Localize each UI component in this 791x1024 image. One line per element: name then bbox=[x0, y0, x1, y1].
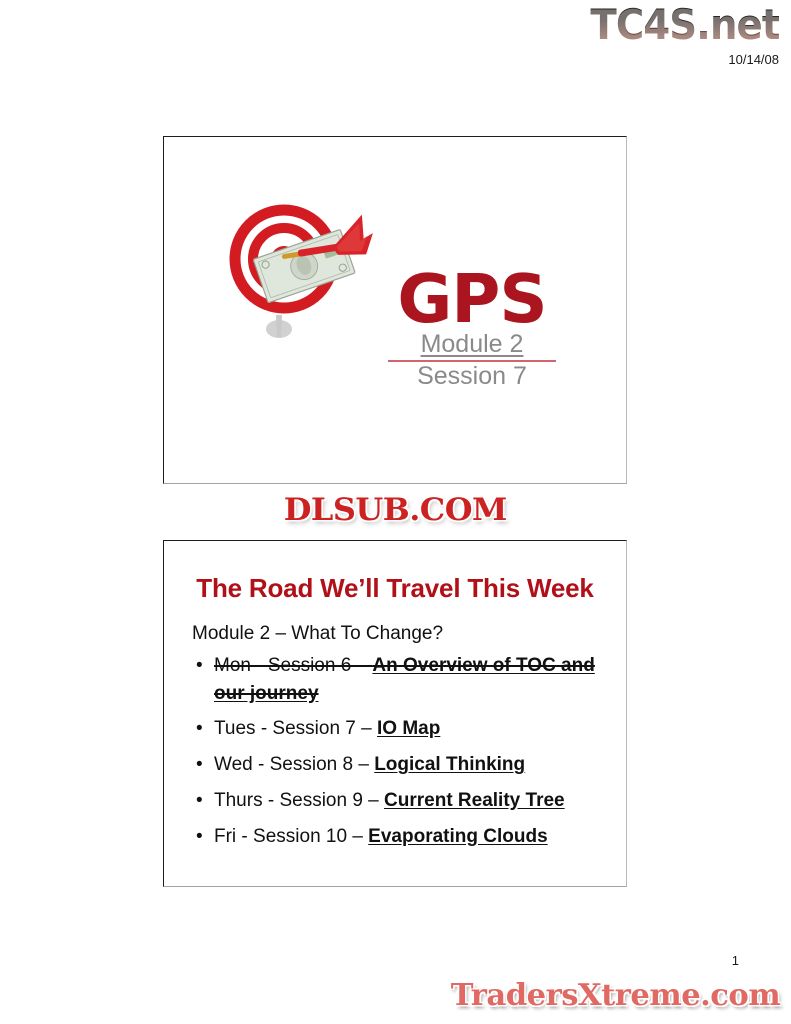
document-page: TC4S.net 10/14/08 bbox=[0, 0, 791, 1024]
gps-text-block: GPS Module 2 Session 7 bbox=[382, 271, 562, 390]
list-item-emphasis: Evaporating Clouds bbox=[368, 826, 547, 847]
header-brand-block: TC4S.net 10/14/08 bbox=[574, 4, 779, 66]
list-item-prefix: Tues - Session 7 – bbox=[214, 718, 377, 739]
bullet-glyph: • bbox=[196, 652, 203, 680]
bullseye-target-icon bbox=[224, 197, 374, 347]
bullet-glyph: • bbox=[196, 823, 203, 851]
agenda-title: The Road We’ll Travel This Week bbox=[164, 573, 626, 604]
gps-logo-lockup: GPS Module 2 Session 7 bbox=[224, 185, 564, 385]
list-item-line: Fri - Session 10 – Evaporating Clouds bbox=[214, 826, 548, 847]
bullet-glyph: • bbox=[196, 715, 203, 743]
list-item-line: Tues - Session 7 – IO Map bbox=[214, 718, 440, 739]
list-item-emphasis: Current Reality Tree bbox=[384, 790, 565, 811]
list-item-line: Thurs - Session 9 – Current Reality Tree bbox=[214, 790, 565, 811]
list-item: • Fri - Session 10 – Evaporating Clouds bbox=[192, 823, 604, 851]
list-item-line: Mon - Session 6 – An Overview of TOC and… bbox=[214, 655, 595, 704]
list-item-prefix: Fri - Session 10 – bbox=[214, 826, 368, 847]
list-item-prefix: Wed - Session 8 – bbox=[214, 754, 374, 775]
agenda-list: • Mon - Session 6 – An Overview of TOC a… bbox=[192, 652, 604, 850]
agenda-lead-text: Module 2 – What To Change? bbox=[192, 623, 604, 645]
footer-brand-text: TradersXtreme.com bbox=[451, 978, 780, 1013]
gps-wordmark: GPS bbox=[382, 271, 562, 329]
watermark-text: DLSUB.COM bbox=[284, 492, 507, 528]
list-item-prefix: Thurs - Session 9 – bbox=[214, 790, 384, 811]
page-number: 1 bbox=[732, 953, 739, 968]
site-wordmark: TC4S.net bbox=[590, 4, 779, 46]
list-item-emphasis: IO Map bbox=[377, 718, 440, 739]
header-date: 10/14/08 bbox=[574, 53, 779, 66]
list-item: • Thurs - Session 9 – Current Reality Tr… bbox=[192, 787, 604, 815]
bullet-glyph: • bbox=[196, 787, 203, 815]
bullet-glyph: • bbox=[196, 751, 203, 779]
list-item: • Tues - Session 7 – IO Map bbox=[192, 715, 604, 743]
list-item-emphasis: Logical Thinking bbox=[374, 754, 525, 775]
list-item-line: Wed - Session 8 – Logical Thinking bbox=[214, 754, 525, 775]
slide-agenda: The Road We’ll Travel This Week Module 2… bbox=[163, 540, 627, 887]
list-item: • Mon - Session 6 – An Overview of TOC a… bbox=[192, 652, 604, 707]
agenda-body: Module 2 – What To Change? • Mon - Sessi… bbox=[192, 623, 604, 858]
list-item-prefix: Mon - Session 6 – bbox=[214, 655, 372, 676]
footer-brand: TradersXtreme.com bbox=[454, 978, 777, 1013]
watermark-dlsub: DLSUB.COM bbox=[0, 492, 791, 528]
gps-session-label: Session 7 bbox=[382, 363, 562, 390]
list-item: • Wed - Session 8 – Logical Thinking bbox=[192, 751, 604, 779]
slide-title-card: GPS Module 2 Session 7 bbox=[163, 136, 627, 484]
